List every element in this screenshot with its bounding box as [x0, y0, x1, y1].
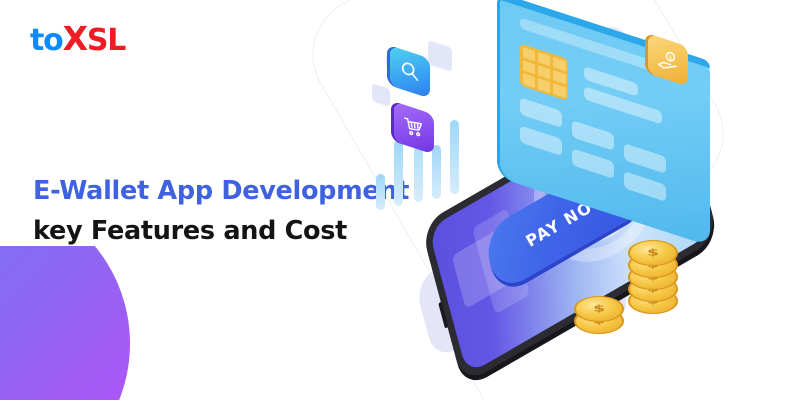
coin-symbol: $ — [647, 248, 659, 258]
illustration-scene: PAY NOW — [370, 0, 800, 400]
card-number-block — [520, 97, 562, 128]
coin: $ — [628, 240, 678, 266]
decor-square — [428, 40, 452, 72]
logo-text-x: X — [63, 19, 87, 58]
search-tile[interactable] — [390, 46, 430, 99]
logo-text-sl: SL — [87, 23, 125, 58]
search-icon — [399, 59, 421, 85]
coin-symbol: $ — [593, 304, 605, 314]
chart-bar — [450, 120, 459, 194]
card-number-block — [624, 171, 666, 202]
corner-gradient-blob — [0, 246, 130, 400]
hand-holding-coin-icon: $ — [657, 47, 680, 74]
shopping-cart-icon — [403, 115, 425, 141]
card-number-block — [520, 125, 562, 156]
banner: toXSL E-Wallet App Development key Featu… — [0, 0, 800, 400]
chart-bar — [376, 174, 385, 210]
card-number-block — [572, 148, 614, 179]
chart-bar — [432, 145, 441, 199]
logo-text-to: to — [30, 23, 63, 58]
card-number-block — [572, 120, 614, 151]
toxsl-logo[interactable]: toXSL — [30, 22, 125, 56]
chart-bar — [394, 140, 403, 206]
card-number-block — [624, 143, 666, 174]
svg-text:$: $ — [668, 54, 672, 61]
coin: $ — [574, 296, 624, 322]
decor-square — [372, 83, 390, 107]
card-chip-icon — [520, 43, 568, 101]
